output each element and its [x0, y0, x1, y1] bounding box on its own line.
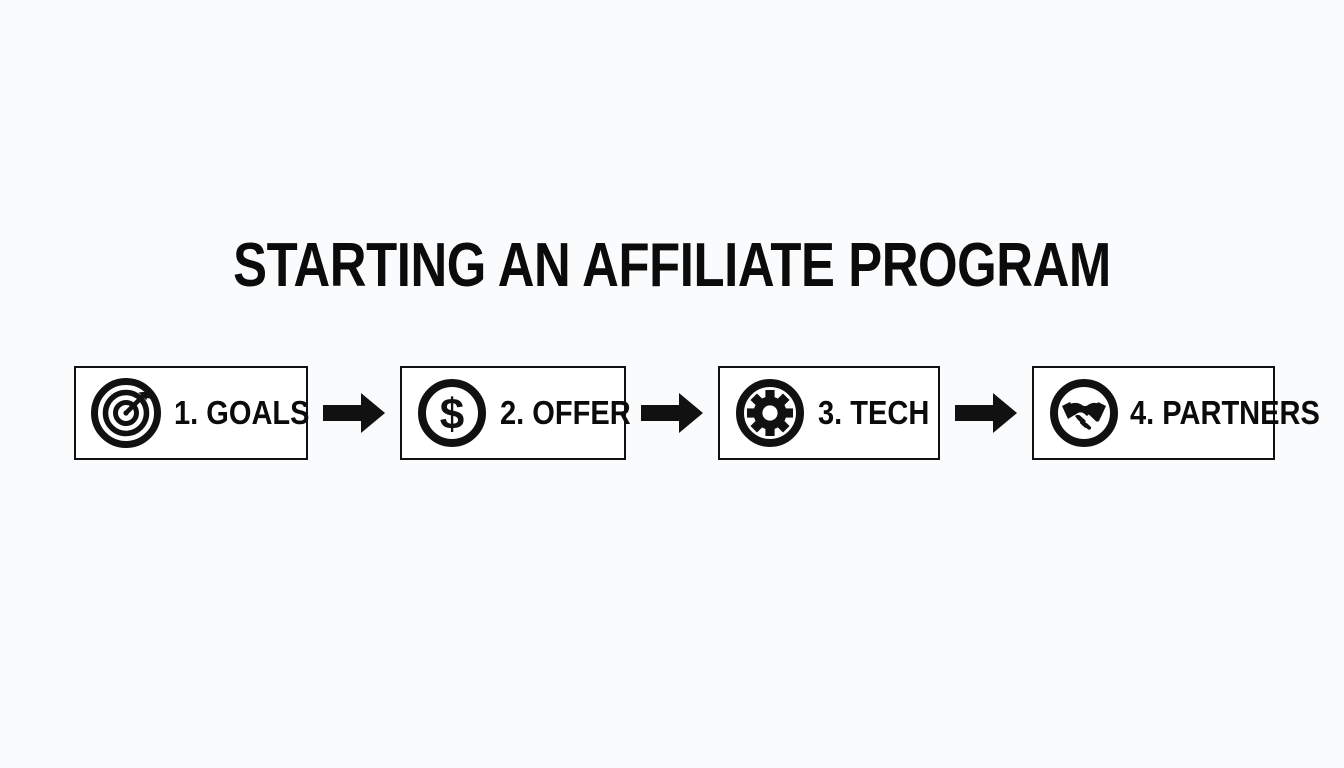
flow-step-tech[interactable]: 3. TECH	[718, 366, 940, 460]
flow-step-partners[interactable]: 4. PARTNERS	[1032, 366, 1275, 460]
process-flow-diagram: 1. GOALS $ 2. OFFER	[74, 366, 1274, 460]
flow-step-label: 3. TECH	[818, 396, 929, 430]
arrow-right-icon	[626, 366, 718, 460]
arrow-right-icon	[940, 366, 1032, 460]
arrow-right-icon	[308, 366, 400, 460]
target-icon	[90, 377, 162, 449]
page-title: STARTING AN AFFILIATE PROGRAM	[121, 234, 1223, 298]
flow-step-goals[interactable]: 1. GOALS	[74, 366, 308, 460]
handshake-circle-icon	[1048, 377, 1120, 449]
gear-circle-icon	[734, 377, 806, 449]
dollar-circle-icon: $	[416, 377, 488, 449]
slide-canvas: STARTING AN AFFILIATE PROGRAM 1. GOALS	[0, 0, 1344, 768]
svg-text:$: $	[440, 390, 464, 439]
flow-step-label: 1. GOALS	[174, 396, 310, 430]
flow-step-offer[interactable]: $ 2. OFFER	[400, 366, 626, 460]
flow-step-label: 2. OFFER	[500, 396, 631, 430]
flow-step-label: 4. PARTNERS	[1130, 396, 1320, 430]
